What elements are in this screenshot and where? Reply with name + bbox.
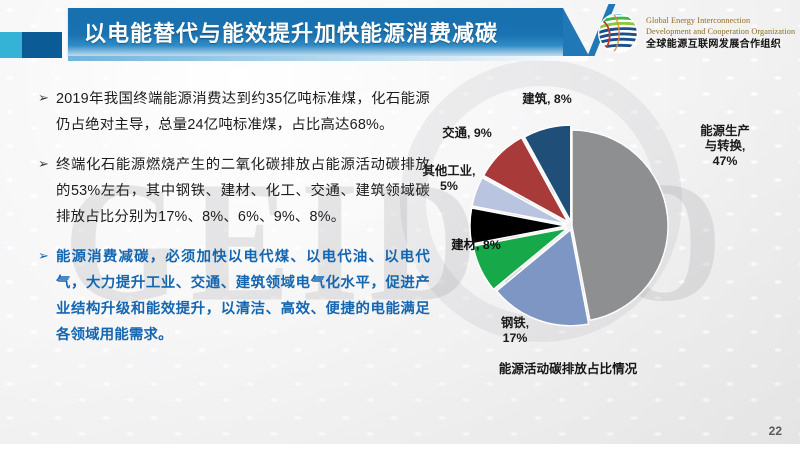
bullet-text-2: 终端化石能源燃烧产生的二氧化碳排放占能源活动碳排放的53%左右，其中钢铁、建材、… [56, 152, 430, 230]
pie-slice-label: 能源生产与转换,47% [670, 124, 780, 169]
pie-slice-label: 建筑, 8% [504, 92, 590, 107]
geidco-globe-icon [596, 11, 640, 55]
header-accent-square-blue [22, 32, 62, 58]
bullet-item-3: ➢ 能源消费减碳，必须加快以电代煤、以电代油、以电代气，大力提升工业、交通、建筑… [38, 244, 430, 348]
pie-slice-label: 建材, 8% [436, 238, 516, 253]
bullet-item-2: ➢ 终端化石能源燃烧产生的二氧化碳排放占能源活动碳排放的53%左右，其中钢铁、建… [38, 152, 430, 230]
pie-slice [572, 130, 668, 320]
header-underline [68, 56, 588, 61]
bullet-arrow-icon: ➢ [38, 152, 56, 178]
slide-bottom-edge [0, 444, 800, 450]
logo-cn-name: 全球能源互联网发展合作组织 [646, 38, 795, 52]
pie-slice-label: 交通, 9% [424, 126, 510, 141]
bullet-arrow-icon: ➢ [38, 86, 56, 112]
page-title: 以电能替代与能效提升加快能源消费减碳 [68, 16, 498, 48]
pie-chart-figure: 能源生产与转换,47%钢铁,17%建材, 8%其他工业,5%交通, 9%建筑, … [418, 86, 798, 386]
logo-en-line2: Development and Cooperation Organization [646, 26, 795, 37]
header-accent-square-cyan [0, 32, 22, 58]
logo-en-line1: Global Energy Interconnection [646, 15, 795, 26]
pie-slice-label: 钢铁,17% [470, 316, 560, 346]
chart-caption: 能源活动碳排放占比情况 [418, 358, 718, 377]
bullet-text-1: 2019年我国终端能源消费达到约35亿吨标准煤，化石能源仍占绝对主导，总量24亿… [56, 86, 430, 138]
slide-header: 以电能替代与能效提升加快能源消费减碳 [0, 0, 800, 72]
bullet-arrow-icon: ➢ [38, 244, 56, 270]
organization-logo: Global Energy Interconnection Developmen… [596, 5, 796, 61]
title-banner: 以电能替代与能效提升加快能源消费减碳 [68, 8, 563, 56]
bullet-text-3: 能源消费减碳，必须加快以电代煤、以电代油、以电代气，大力提升工业、交通、建筑领域… [56, 244, 430, 348]
logo-text-block: Global Energy Interconnection Developmen… [646, 15, 795, 52]
bullet-list: ➢ 2019年我国终端能源消费达到约35亿吨标准煤，化石能源仍占绝对主导，总量2… [38, 86, 430, 362]
pie-slice-label: 其他工业,5% [406, 164, 492, 194]
slide-canvas: GEIDCO 以电能替代与能效提升加快能源消费减碳 [0, 0, 800, 450]
bullet-item-1: ➢ 2019年我国终端能源消费达到约35亿吨标准煤，化石能源仍占绝对主导，总量2… [38, 86, 430, 138]
page-number: 22 [769, 424, 782, 438]
